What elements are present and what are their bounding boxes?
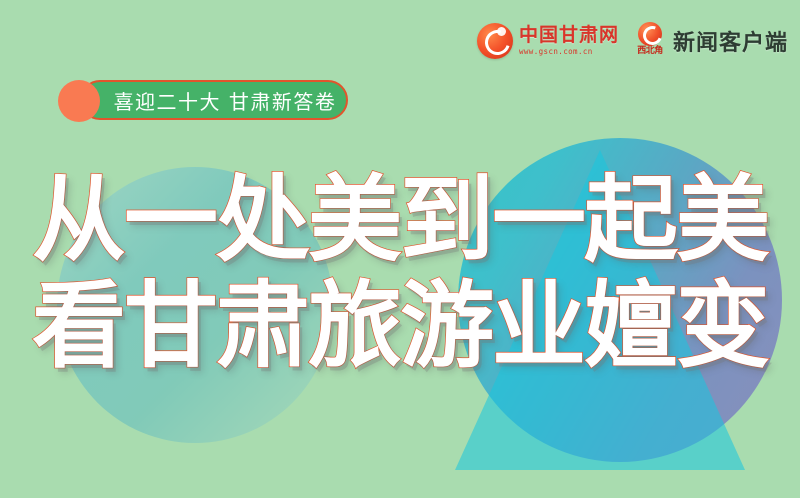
gansu-net-text: 中国甘肃网 www.gscn.com.cn: [519, 26, 619, 56]
campaign-badge-label: 喜迎二十大 甘肃新答卷: [92, 86, 337, 115]
logo-news-client[interactable]: 西北角 新闻客户端: [633, 22, 788, 60]
gansu-net-circular-logo-icon: [477, 23, 513, 59]
news-client-name: 新闻客户端: [673, 25, 788, 57]
xibeijiao-circular-logo-icon: 西北角: [633, 22, 667, 60]
gansu-net-name: 中国甘肃网: [519, 26, 619, 45]
xibeijiao-dot-icon: [638, 22, 662, 46]
headline-line-1: 从一处美到一起美: [32, 170, 768, 272]
gansu-net-url: www.gscn.com.cn: [519, 48, 619, 56]
headline-block: 从一处美到一起美 看甘肃旅游业嬗变: [0, 170, 800, 377]
poster-canvas: 中国甘肃网 www.gscn.com.cn 西北角 新闻客户端 喜迎二十大 甘肃…: [0, 0, 800, 498]
header-logos: 中国甘肃网 www.gscn.com.cn 西北角 新闻客户端: [477, 22, 788, 60]
logo-gansu-net[interactable]: 中国甘肃网 www.gscn.com.cn: [477, 23, 619, 59]
xibeijiao-sub-label: 西北角: [637, 47, 663, 56]
campaign-badge[interactable]: 喜迎二十大 甘肃新答卷: [80, 80, 348, 120]
headline-line-2: 看甘肃旅游业嬗变: [32, 276, 768, 378]
orange-dot-icon: [58, 80, 100, 122]
